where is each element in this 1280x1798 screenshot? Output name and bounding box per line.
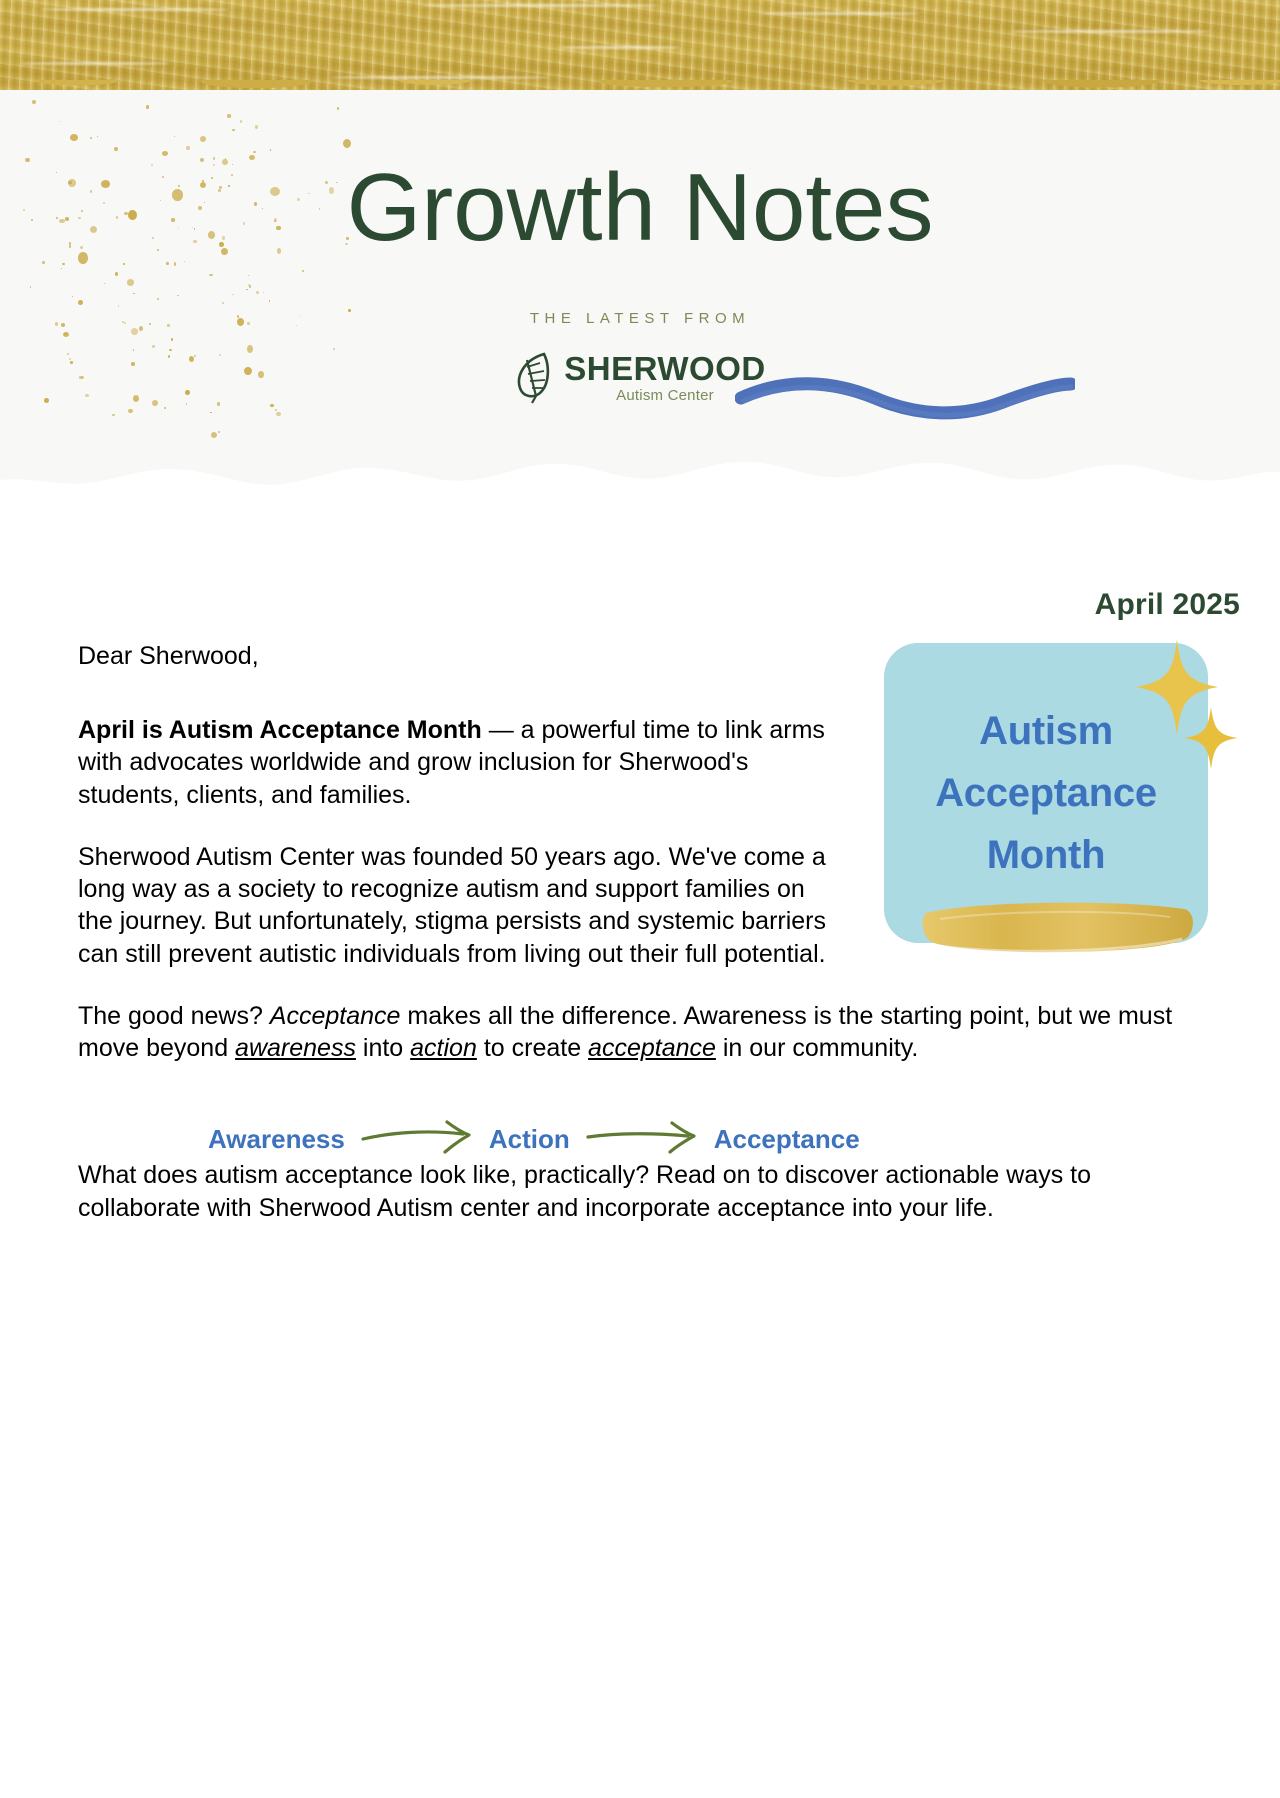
p3-seg-c: into xyxy=(356,1034,410,1062)
gold-sparkle-star-small-icon xyxy=(1182,705,1240,776)
promo-card-line-1: Autism xyxy=(979,700,1113,762)
promo-card-line-3: Month xyxy=(987,824,1105,886)
flow-step-action: Action xyxy=(489,1124,570,1155)
awareness-action-acceptance-flow: Awareness Action Acceptance xyxy=(208,1120,1208,1159)
paragraph-1-bold-lead: April is Autism Acceptance Month xyxy=(78,716,482,744)
paragraph-4: What does autism acceptance look like, p… xyxy=(78,1159,1208,1224)
issue-date: April 2025 xyxy=(1095,588,1240,622)
blue-wave-brush-icon xyxy=(735,372,1075,433)
promo-card-line-2: Acceptance xyxy=(935,762,1157,824)
header-kicker: THE LATEST FROM xyxy=(0,310,1280,327)
p3-italic-underline-acceptance: acceptance xyxy=(588,1034,716,1062)
gold-brush-stroke-icon xyxy=(918,897,1198,959)
gold-sparkle-star-icon xyxy=(1134,637,1220,742)
flow-step-acceptance: Acceptance xyxy=(714,1124,860,1155)
p3-seg-d: to create xyxy=(477,1034,588,1062)
promo-card-wrapper: Autism Acceptance Month xyxy=(876,643,1208,961)
gold-foil-bar xyxy=(0,0,1280,90)
newsletter-header: Growth Notes THE LATEST FROM SHERWOOD Au… xyxy=(0,0,1280,500)
torn-paper-edge xyxy=(0,430,1280,500)
letter-body: Autism Acceptance Month xyxy=(78,640,1208,1254)
autism-acceptance-month-card: Autism Acceptance Month xyxy=(884,643,1208,943)
arrow-right-icon xyxy=(359,1120,475,1159)
p3-italic-underline-awareness: awareness xyxy=(235,1034,356,1062)
page-title: Growth Notes xyxy=(0,160,1280,256)
leaf-icon xyxy=(514,350,554,404)
p3-seg-e: in our community. xyxy=(716,1034,918,1062)
paragraph-3: The good news? Acceptance makes all the … xyxy=(78,1000,1208,1065)
arrow-right-icon-2 xyxy=(584,1120,700,1159)
p3-seg-a: The good news? xyxy=(78,1002,270,1030)
sherwood-logo: SHERWOOD Autism Center xyxy=(0,350,1280,404)
p3-italic-underline-action: action xyxy=(410,1034,477,1062)
flow-step-awareness: Awareness xyxy=(208,1124,345,1155)
p3-italic-acceptance: Acceptance xyxy=(270,1002,401,1030)
